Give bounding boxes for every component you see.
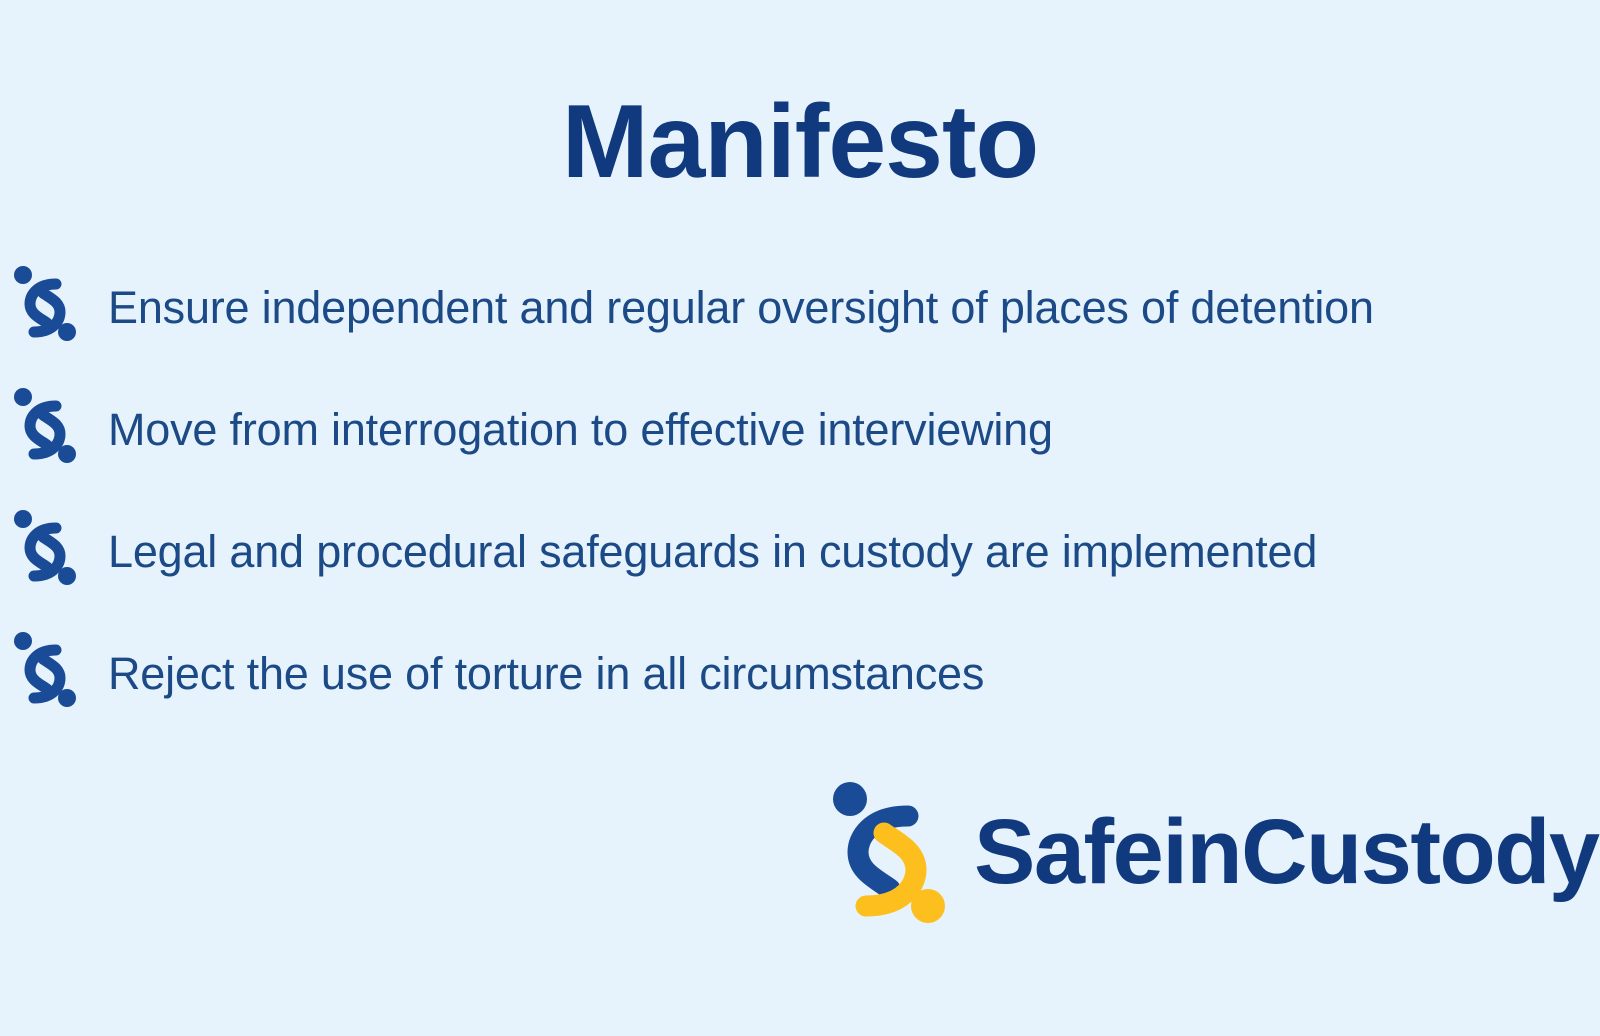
safeincustody-s-mark-icon bbox=[10, 262, 80, 354]
list-item: Move from interrogation to effective int… bbox=[10, 380, 1590, 480]
manifesto-slide: Manifesto Ensure independent and regular… bbox=[0, 0, 1600, 1036]
brand-lockup: SafeinCustody bbox=[818, 776, 1599, 928]
safeincustody-s-mark-icon bbox=[10, 628, 80, 720]
manifesto-list: Ensure independent and regular oversight… bbox=[10, 258, 1590, 746]
safeincustody-s-mark-icon bbox=[10, 506, 80, 598]
page-title: Manifesto bbox=[0, 88, 1600, 197]
list-item-label: Reject the use of torture in all circums… bbox=[108, 649, 984, 699]
safeincustody-s-mark-icon bbox=[10, 384, 80, 476]
list-item: Legal and procedural safeguards in custo… bbox=[10, 502, 1590, 602]
list-item-label: Legal and procedural safeguards in custo… bbox=[108, 527, 1317, 577]
list-item-label: Ensure independent and regular oversight… bbox=[108, 283, 1374, 333]
safeincustody-logo-icon bbox=[818, 776, 950, 928]
list-item: Ensure independent and regular oversight… bbox=[10, 258, 1590, 358]
brand-wordmark: SafeinCustody bbox=[974, 806, 1599, 898]
list-item-label: Move from interrogation to effective int… bbox=[108, 405, 1053, 455]
list-item: Reject the use of torture in all circums… bbox=[10, 624, 1590, 724]
